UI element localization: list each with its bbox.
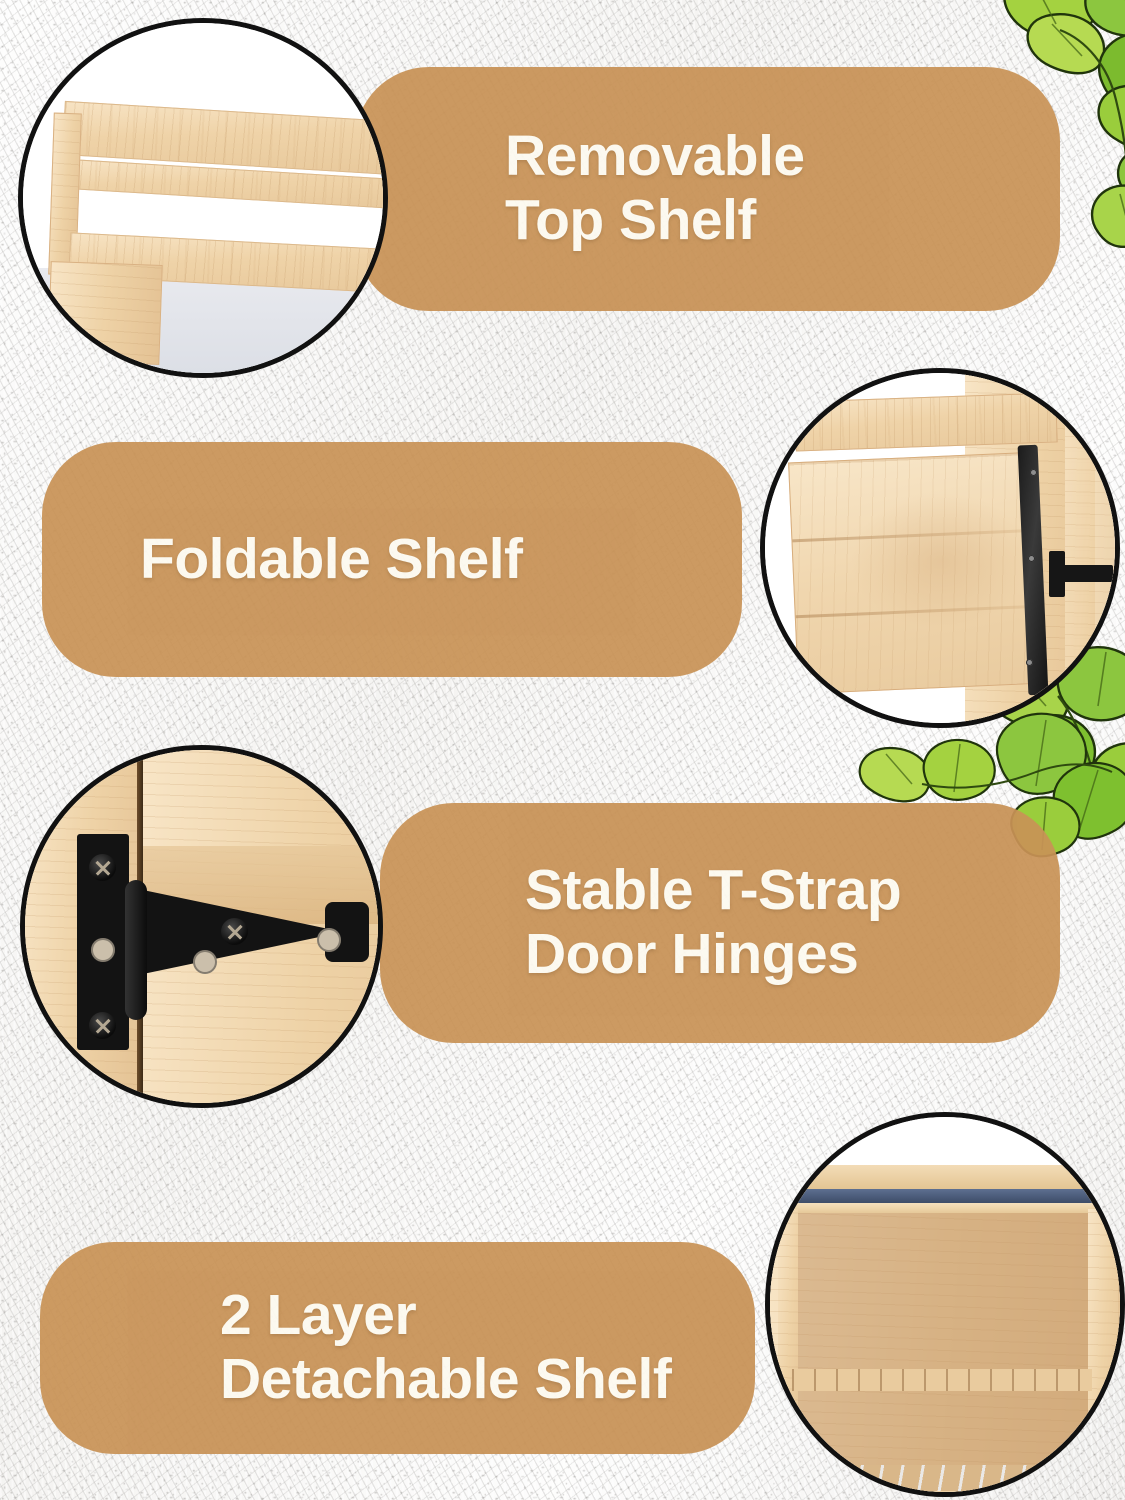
hinge-hole (317, 928, 341, 952)
feature-caption-2-layer-detachable-shelf: 2 Layer Detachable Shelf (220, 1284, 671, 1412)
t-hinge-knuckle (125, 880, 147, 1020)
cabinet-interior-back (792, 1213, 1092, 1483)
shelf-foot-panel (47, 261, 162, 365)
cabinet-blue-trim (776, 1189, 1125, 1203)
hinge-screw (221, 918, 248, 945)
feature-caption-t-strap-door-hinges: Stable T-Strap Door Hinges (525, 859, 901, 987)
feature-photo-removable-top-shelf (18, 18, 388, 378)
detachable-shelf-lower (800, 1465, 1092, 1491)
product-feature-poster: Removable Top Shelf Foldable Shelf Stabl… (0, 0, 1125, 1500)
cabinet-top-board (774, 1165, 1124, 1191)
feature-banner-t-strap-door-hinges: Stable T-Strap Door Hinges (380, 803, 1060, 1043)
feature-photo-2-layer-detachable-shelf (765, 1112, 1125, 1497)
hinge-screw (89, 854, 116, 881)
detachable-shelf-upper (792, 1369, 1092, 1391)
hinge-hole (91, 938, 115, 962)
feature-photo-t-strap-door-hinge (20, 745, 383, 1108)
feature-caption-foldable-shelf: Foldable Shelf (140, 528, 523, 592)
cabinet-left-side (778, 1209, 798, 1497)
cabinet-header-board (794, 392, 1058, 451)
feature-banner-2-layer-detachable-shelf: 2 Layer Detachable Shelf (40, 1242, 755, 1454)
bracket-screw (1028, 555, 1035, 562)
cabinet-front-lip (776, 1203, 1125, 1213)
feature-banner-removable-top-shelf: Removable Top Shelf (355, 67, 1060, 311)
panel-seam (792, 529, 1037, 543)
panel-seam (796, 604, 1041, 618)
bracket-screw (1030, 469, 1037, 476)
t-hinge-strap (1053, 565, 1113, 582)
bracket-screw (1026, 659, 1033, 666)
cabinet-side-panel (1065, 373, 1120, 723)
foldable-shelf-panel (788, 452, 1045, 695)
feature-caption-removable-top-shelf: Removable Top Shelf (505, 125, 805, 253)
hinge-hole (193, 950, 217, 974)
feature-photo-foldable-shelf (760, 368, 1120, 728)
feature-banner-foldable-shelf: Foldable Shelf (42, 442, 742, 677)
cabinet-right-side (1088, 1209, 1118, 1497)
hinge-screw (89, 1012, 116, 1039)
